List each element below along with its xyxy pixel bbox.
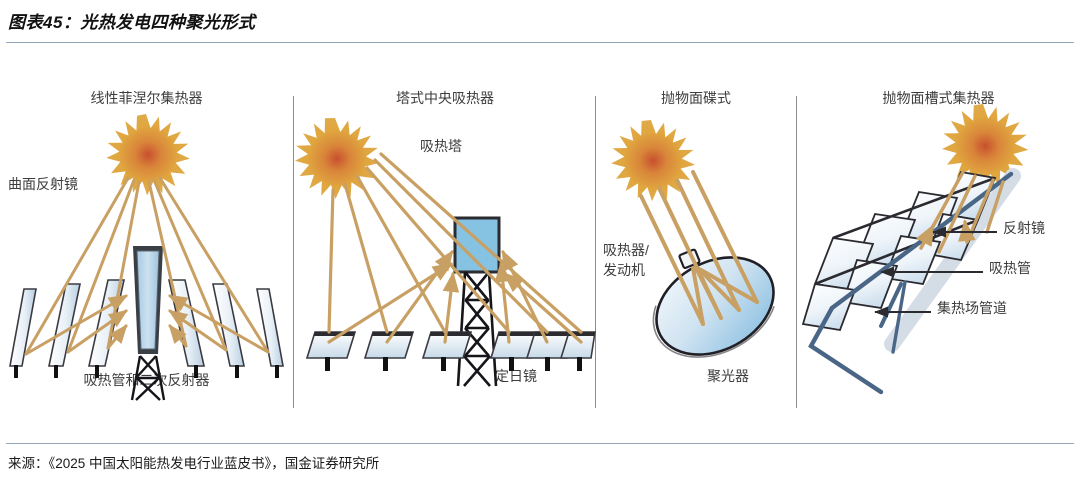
central-tower-diagram [295,56,595,436]
sun-icon [295,118,379,199]
central-receiver [133,246,163,354]
panel-parabolic-dish: 抛物面碟式 吸热器/ 发动机 聚光器 [597,56,795,436]
page-title: 图表45：光热发电四种聚光形式 [8,8,255,33]
parabolic-trough-diagram [797,56,1080,436]
receiver-support-tower [132,356,164,400]
parabolic-dish-diagram [597,56,795,436]
source-divider-bottom [6,443,1074,444]
mirror-posts-left [14,365,99,378]
tower-lattice [458,272,496,386]
heliostat-row-right [491,332,595,371]
mirror-posts-right [194,365,279,378]
panel-divider-1 [293,96,294,408]
source-note: 来源：《2025 中国太阳能热发电行业蓝皮书》，国金证券研究所 [8,452,379,472]
panel-linear-fresnel: 线性菲涅尔集热器 曲面反射镜 吸热管和二次反射器 [0,56,293,436]
panel-central-tower: 塔式中央吸热器 吸热塔 定日镜 [295,56,595,436]
linear-fresnel-diagram [0,56,293,436]
panel-divider-2 [595,96,596,408]
title-divider-top [6,42,1074,43]
panel-parabolic-trough: 抛物面槽式集热器 反射镜 吸热管 集热场管道 [797,56,1080,436]
figure-body: 线性菲涅尔集热器 曲面反射镜 吸热管和二次反射器 [0,56,1080,436]
